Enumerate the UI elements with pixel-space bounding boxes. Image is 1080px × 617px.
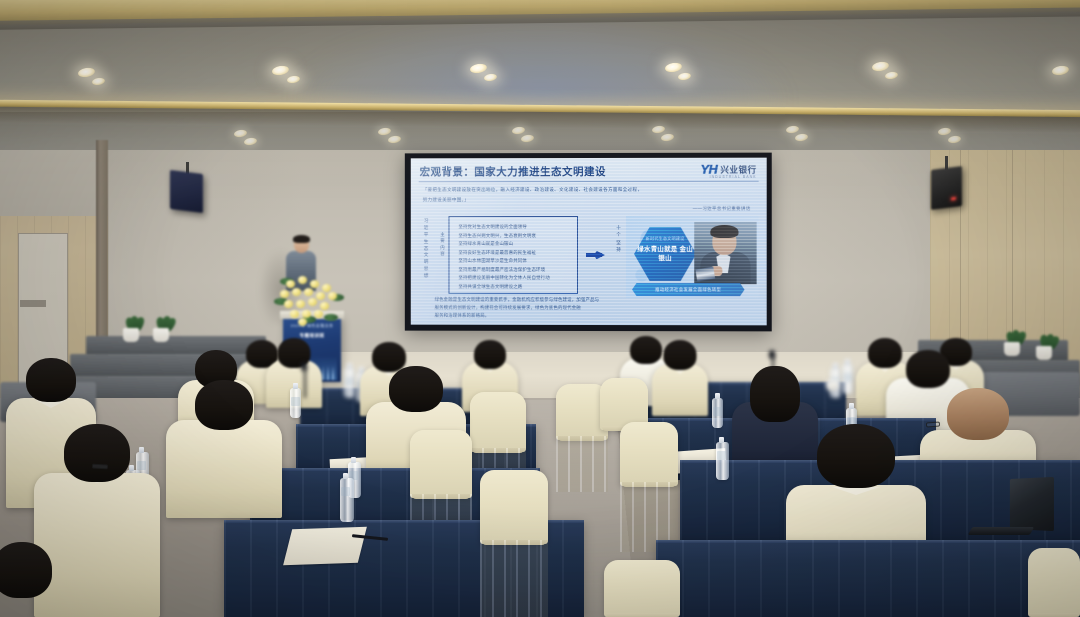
chair[interactable] xyxy=(480,470,548,544)
microphone-stand xyxy=(304,368,306,398)
slide-bullet-list: 坚持党对生态文明建设的全面领导 坚持生态兴则文明兴，生态衰则文明衰 坚持绿水青山… xyxy=(458,223,573,291)
slide-bullet-item: 坚持良好生态环境是最普惠的民生福祉 xyxy=(458,248,573,257)
water-bottle[interactable] xyxy=(344,368,355,398)
potted-plant xyxy=(150,306,172,342)
slide-quote-attribution: ——习近平总书记重要讲话 xyxy=(693,206,751,212)
plant-pot xyxy=(1004,342,1020,356)
slide-vertical-label-left: 习近平生态文明思想 xyxy=(422,218,431,280)
eyeglasses xyxy=(926,422,940,428)
conference-table xyxy=(656,540,1080,617)
slide-footer-line-3: 服务和治理体系的新格局。 xyxy=(435,312,657,321)
wall-vent xyxy=(20,300,46,307)
chair[interactable] xyxy=(1028,548,1080,617)
slide-vertical-label-inner: 主要内容 xyxy=(439,232,447,257)
water-bottle[interactable] xyxy=(712,398,723,428)
chair-skirt xyxy=(556,436,608,492)
hexagon-title-text: 绿水青山就是 金山银山 xyxy=(637,246,693,263)
microphone xyxy=(301,362,307,371)
hexagon-banner-text: 推动经济社会发展全面绿色转型 xyxy=(655,287,721,293)
logo-subtitle: INDUSTRIAL BANK xyxy=(710,175,757,179)
wall-speaker-left xyxy=(170,170,203,213)
slide-bullet-item: 坚持生态兴则文明兴，生态衰则文明衰 xyxy=(458,232,573,241)
slide-bullet-item: 坚持用最严格制度最严密法治保护生态环境 xyxy=(458,265,573,274)
screen-surface: 宏观背景：国家大力推进生态文明建设 YH 兴业银行 INDUSTRIAL BAN… xyxy=(411,158,767,326)
slide-vertical-label-right: 十个坚持 xyxy=(614,224,623,253)
wall-speaker-right xyxy=(931,166,962,210)
slide-arrow-icon xyxy=(586,250,610,259)
slide-quote-line-2: 努力建设美丽中国。」 xyxy=(423,196,755,205)
slide-bullet-item: 坚持山水林田湖草沙是生命共同体 xyxy=(458,257,573,266)
slide-bullet-item: 坚持共谋全球生态文明建设之路 xyxy=(458,282,573,291)
potted-plant xyxy=(120,308,142,342)
water-bottle[interactable] xyxy=(842,364,853,394)
chair[interactable] xyxy=(470,392,526,452)
chair[interactable] xyxy=(604,560,680,617)
flower-arrangement xyxy=(272,272,350,328)
slide-footer-line-2: 服务模式的创新设计，构建符合可持续发展要求，绿色为底色的现代金融 xyxy=(435,303,657,311)
chair[interactable] xyxy=(620,422,678,486)
potted-plant xyxy=(1000,318,1024,356)
attendee xyxy=(0,542,72,617)
attendee xyxy=(652,340,708,416)
water-bottle[interactable] xyxy=(716,442,729,480)
chair-skirt xyxy=(480,540,548,617)
speaker-power-led xyxy=(951,197,956,201)
microphone xyxy=(769,350,775,359)
leader-portrait-photo xyxy=(694,222,756,284)
slide-footer-line-1: 绿色金融是生态文明建设的重要抓手，金融机构应积极参与绿色建设，加强产品与 xyxy=(435,295,657,303)
tea-cup[interactable] xyxy=(826,380,839,391)
plant-pot xyxy=(153,328,169,342)
slide-bullet-item: 坚持把建设美丽中国转化为全体人民自觉行动 xyxy=(458,274,573,283)
slide-bullet-box: 坚持党对生态文明建设的全面领导 坚持生态兴则文明兴，生态衰则文明衰 坚持绿水青山… xyxy=(448,216,578,294)
water-bottle[interactable] xyxy=(340,478,354,522)
slide-bullet-item: 坚持绿水青山就是金山银山 xyxy=(458,240,573,248)
slide-quote-line-1: 「要把生态文明建设放在突出地位，融入经济建设、政治建设、文化建设、社会建设各方面… xyxy=(423,186,755,195)
plant-pot xyxy=(1036,346,1052,360)
wall-panel-left-upper xyxy=(0,150,108,216)
conference-hall-scene: 宏观背景：国家大力推进生态文明建设 YH 兴业银行 INDUSTRIAL BAN… xyxy=(0,0,1080,617)
chair[interactable] xyxy=(410,430,472,498)
slide-footer-text: 绿色金融是生态文明建设的重要抓手，金融机构应积极参与绿色建设，加强产品与 服务模… xyxy=(435,295,657,320)
slide-title-rule xyxy=(419,181,759,182)
hexagon-banner: 推动经济社会发展全面绿色转型 xyxy=(632,283,745,296)
plant-pot xyxy=(123,328,139,342)
slide-hexagon-graphic: 新时代生态文明建设 绿水青山就是 金山银山 推动经济社会发展全面绿色转型 xyxy=(626,216,759,298)
slide-bullet-item: 坚持党对生态文明建设的全面领导 xyxy=(458,223,573,232)
potted-plant xyxy=(1032,324,1056,360)
presentation-slide: 宏观背景：国家大力推进生态文明建设 YH 兴业银行 INDUSTRIAL BAN… xyxy=(411,158,767,326)
hexagon-kicker-text: 新时代生态文明建设 xyxy=(638,236,692,242)
led-display-screen[interactable]: 宏观背景：国家大力推进生态文明建设 YH 兴业银行 INDUSTRIAL BAN… xyxy=(405,153,772,332)
eyeglasses xyxy=(92,464,108,470)
document-on-table[interactable] xyxy=(283,527,367,566)
water-bottle[interactable] xyxy=(290,388,301,418)
attendee xyxy=(166,380,282,518)
